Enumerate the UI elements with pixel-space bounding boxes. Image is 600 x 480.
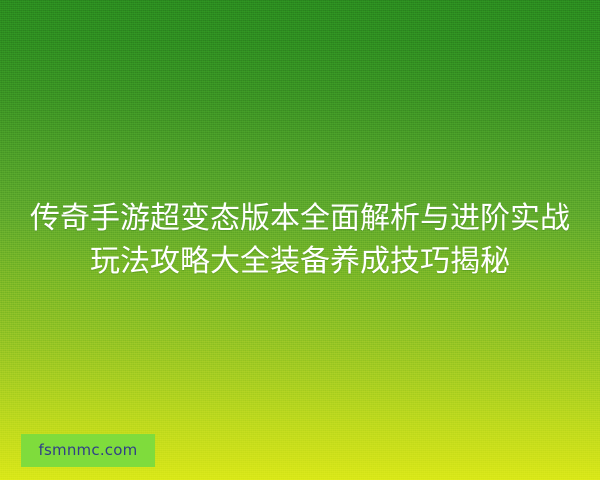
banner-image: 传奇手游超变态版本全面解析与进阶实战 玩法攻略大全装备养成技巧揭秘 fsmnmc… (0, 0, 600, 480)
headline-line-1: 传奇手游超变态版本全面解析与进阶实战 (0, 197, 600, 240)
watermark-badge: fsmnmc.com (21, 434, 155, 467)
headline-text: 传奇手游超变态版本全面解析与进阶实战 玩法攻略大全装备养成技巧揭秘 (0, 197, 600, 283)
headline-line-2: 玩法攻略大全装备养成技巧揭秘 (0, 240, 600, 283)
watermark-site-label: fsmnmc.com (39, 443, 138, 458)
